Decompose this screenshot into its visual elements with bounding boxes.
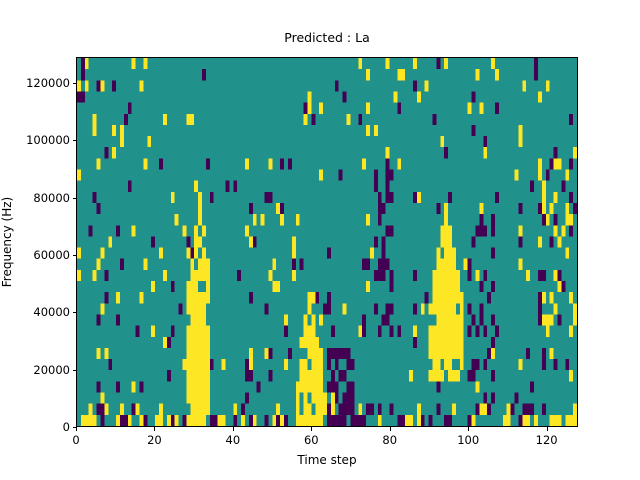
y-tick-mark — [73, 370, 77, 371]
x-tick-label: 40 — [226, 433, 241, 447]
heatmap-axes — [76, 57, 578, 427]
x-axis-label: Time step — [76, 453, 578, 467]
y-tick-mark — [73, 255, 77, 256]
y-tick-mark — [73, 140, 77, 141]
page-title: Predicted : La — [76, 30, 578, 46]
x-tick-mark — [311, 427, 312, 431]
y-tick-label: 120000 — [26, 76, 70, 90]
y-tick-mark — [73, 312, 77, 313]
y-tick-label: 60000 — [33, 248, 70, 262]
y-tick-label: 40000 — [33, 305, 70, 319]
x-tick-mark — [76, 427, 77, 431]
x-tick-label: 20 — [147, 433, 162, 447]
x-tick-mark — [468, 427, 469, 431]
y-tick-label: 100000 — [26, 133, 70, 147]
x-tick-label: 120 — [536, 433, 558, 447]
heatmap-image — [77, 58, 577, 426]
y-axis-label: Frequency (Hz) — [0, 197, 14, 288]
y-tick-label: 20000 — [33, 363, 70, 377]
y-tick-mark — [73, 198, 77, 199]
x-tick-label: 0 — [72, 433, 79, 447]
x-tick-label: 80 — [382, 433, 397, 447]
x-tick-mark — [233, 427, 234, 431]
matplotlib-figure: Predicted : La 020406080100120 020000400… — [0, 0, 640, 480]
x-tick-label: 100 — [457, 433, 479, 447]
y-tick-mark — [73, 427, 77, 428]
y-tick-label: 0 — [63, 420, 70, 434]
x-tick-mark — [547, 427, 548, 431]
x-tick-label: 60 — [304, 433, 319, 447]
y-tick-mark — [73, 83, 77, 84]
y-tick-label: 80000 — [33, 191, 70, 205]
x-tick-mark — [390, 427, 391, 431]
x-tick-mark — [154, 427, 155, 431]
